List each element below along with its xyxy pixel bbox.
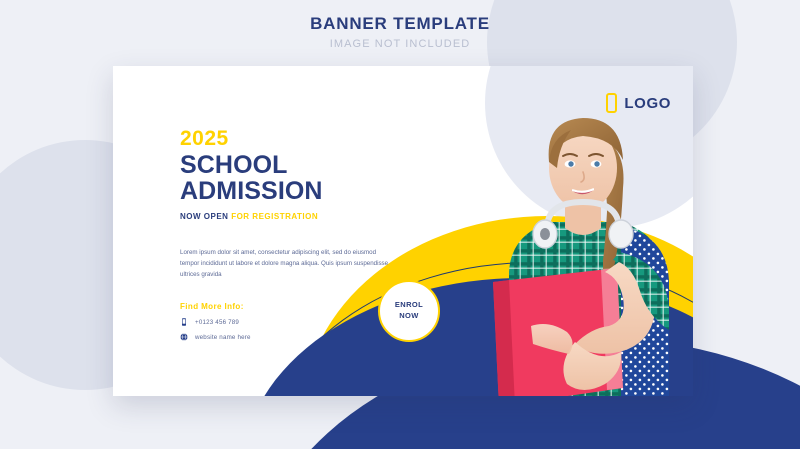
student-photo xyxy=(471,76,693,396)
contact-row-website[interactable]: website name here xyxy=(180,333,380,341)
cta-line-2: NOW xyxy=(399,311,419,322)
headline: SCHOOL ADMISSION xyxy=(180,153,405,205)
headline-line-1: SCHOOL xyxy=(180,153,405,179)
contact-title: Find More Info: xyxy=(180,302,380,311)
contact-row-phone[interactable]: +0123 456 789 xyxy=(180,318,380,326)
page-header: BANNER TEMPLATE IMAGE NOT INCLUDED xyxy=(0,14,800,50)
banner-card: LOGO 2025 SCHOOL ADMISSION NOW OPEN FOR … xyxy=(113,66,693,396)
phone-number: +0123 456 789 xyxy=(195,319,239,326)
body-paragraph: Lorem ipsum dolor sit amet, consectetur … xyxy=(180,247,392,281)
subheadline-primary: NOW OPEN xyxy=(180,212,228,221)
globe-icon xyxy=(180,333,188,341)
page-subtitle: IMAGE NOT INCLUDED xyxy=(0,38,800,50)
page-title: BANNER TEMPLATE xyxy=(0,14,800,34)
screenshot-stage: BANNER TEMPLATE IMAGE NOT INCLUDED LOGO … xyxy=(0,0,800,449)
enrol-now-button[interactable]: ENROL NOW xyxy=(378,280,440,342)
contact-block: Find More Info: +0123 456 789 xyxy=(180,302,380,341)
banner-copy: 2025 SCHOOL ADMISSION NOW OPEN FOR REGIS… xyxy=(180,128,405,281)
year-label: 2025 xyxy=(180,128,405,149)
subheadline: NOW OPEN FOR REGISTRATION xyxy=(180,212,405,221)
phone-icon xyxy=(180,318,188,326)
cta-line-1: ENROL xyxy=(395,300,423,311)
subheadline-secondary: FOR REGISTRATION xyxy=(231,212,318,221)
headline-line-2: ADMISSION xyxy=(180,179,405,205)
website-name: website name here xyxy=(195,334,251,341)
